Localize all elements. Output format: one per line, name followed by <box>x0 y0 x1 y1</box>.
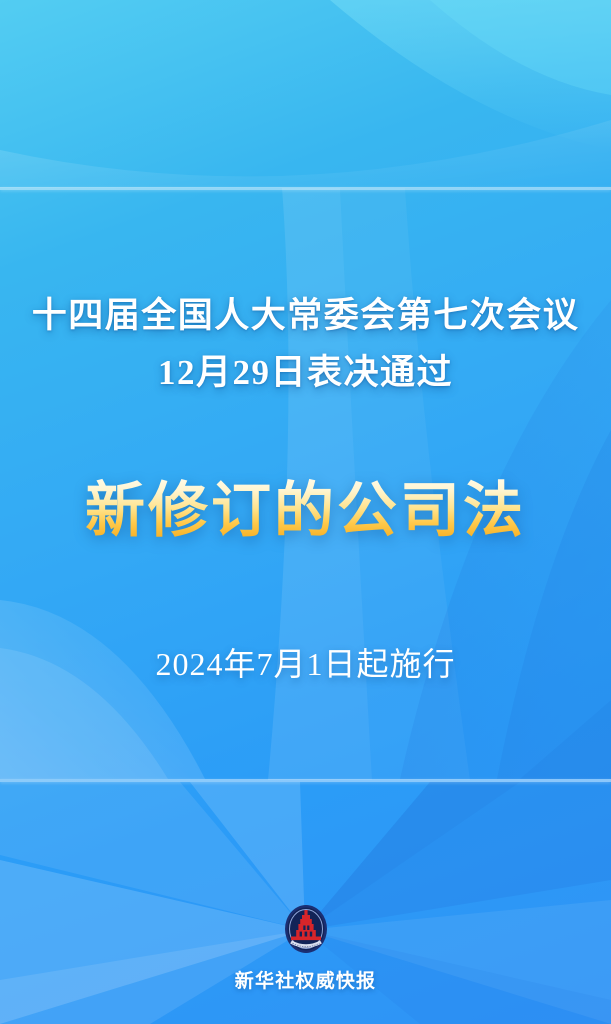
kicker-line-2: 12月29日表决通过 <box>0 345 611 400</box>
poster-content: 十四届全国人大常委会第七次会议 12月29日表决通过 新修订的公司法 2024年… <box>0 0 611 1024</box>
effective-date-line: 2024年7月1日起施行 <box>0 641 611 687</box>
xinhua-news-agency-logo-icon <box>282 903 330 955</box>
brand-block: 新华社权威快报 <box>0 903 611 993</box>
page-title: 新修订的公司法 <box>0 473 611 549</box>
brand-name-label: 新华社权威快报 <box>235 966 376 993</box>
news-poster: 十四届全国人大常委会第七次会议 12月29日表决通过 新修订的公司法 2024年… <box>0 0 611 1024</box>
xinhua-logo-wrap <box>282 903 330 955</box>
kicker-line-1: 十四届全国人大常委会第七次会议 <box>0 288 611 343</box>
